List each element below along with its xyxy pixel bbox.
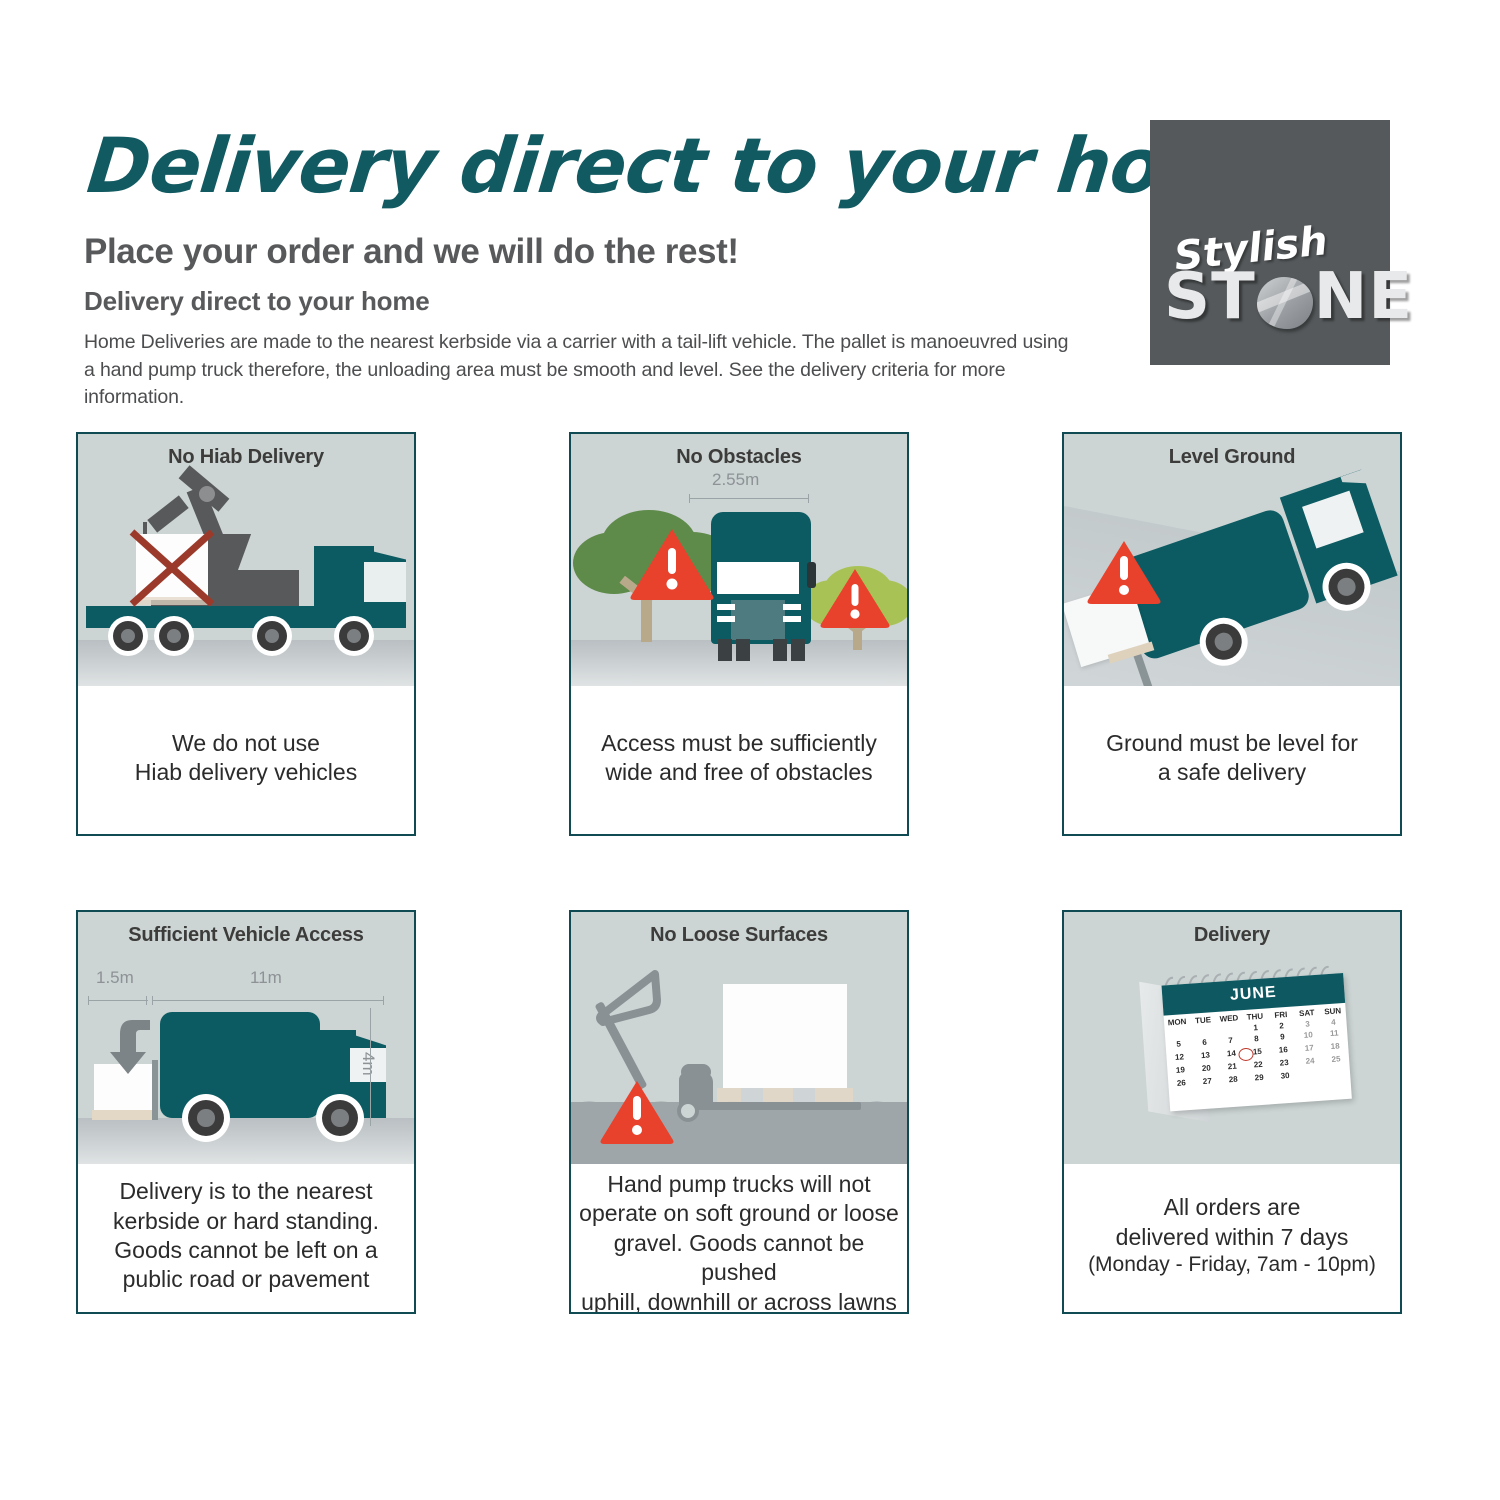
wheel [257, 621, 287, 651]
calendar-day: 26 [1168, 1076, 1195, 1091]
card-caption: Hand pump trucks will not operate on sof… [571, 1164, 907, 1314]
wheel [339, 621, 369, 651]
intro-paragraph: Home Deliveries are made to the nearest … [84, 329, 1084, 412]
card-illustration-loose-surface: No Loose Surfaces [571, 912, 907, 1164]
caption-line: We do not use [172, 729, 320, 758]
desk-calendar-icon: JUNE MON TUE WED THU FRI SAT SUN [1135, 965, 1355, 1129]
truck-grille [731, 600, 785, 640]
caption-line: Delivery is to the nearest [119, 1177, 372, 1206]
truck-headlight [717, 616, 735, 622]
card-title: No Obstacles [571, 446, 907, 469]
card-level-ground: Level Ground [1062, 432, 1402, 836]
pump-truck-wheel [677, 1100, 699, 1122]
caption-line: operate on soft ground or loose [579, 1199, 899, 1228]
card-title: Delivery [1064, 924, 1400, 947]
calendar-day [1298, 1067, 1325, 1082]
dimension-label-length: 11m [250, 968, 282, 988]
caption-line: Goods cannot be left on a [114, 1236, 377, 1265]
calendar-grid: MON TUE WED THU FRI SAT SUN [1164, 1003, 1351, 1091]
truck-box-body [160, 1012, 320, 1118]
wheel [736, 639, 750, 661]
header: Delivery direct to your home Place your … [84, 128, 1084, 412]
pallet-base [92, 1110, 154, 1120]
caption-line: delivered within 7 days [1116, 1223, 1349, 1252]
card-no-hiab-delivery: No Hiab Delivery [76, 432, 416, 836]
calendar-day [1324, 1065, 1351, 1080]
card-caption: Delivery is to the nearest kerbside or h… [78, 1164, 414, 1312]
logo-stone-part2: NE [1314, 260, 1413, 334]
truck-headlight [717, 604, 735, 610]
card-illustration-calendar: Delivery [1064, 912, 1400, 1164]
pump-truck-handle [593, 970, 673, 1032]
truck-mirror [807, 562, 816, 588]
pebble-icon [1257, 277, 1313, 329]
caption-line: Access must be sufficiently [601, 729, 877, 758]
down-arrow-icon [106, 1018, 158, 1076]
card-sufficient-vehicle-access: Sufficient Vehicle Access 1.5m 11m 4m [76, 910, 416, 1314]
card-no-obstacles: No Obstacles 2.55m [569, 432, 909, 836]
wheel [159, 621, 189, 651]
calendar-day: 27 [1194, 1074, 1221, 1089]
warning-icon [599, 1078, 675, 1144]
card-caption: Access must be sufficiently wide and fre… [571, 686, 907, 834]
caption-line: kerbside or hard standing. [113, 1207, 379, 1236]
calendar-day: 30 [1272, 1068, 1299, 1083]
truck-windscreen [717, 562, 799, 594]
logo-stone-part1: ST [1164, 260, 1256, 334]
card-title: Sufficient Vehicle Access [78, 924, 414, 947]
card-illustration-access: Sufficient Vehicle Access 1.5m 11m 4m [78, 912, 414, 1164]
caption-line: public road or pavement [123, 1265, 370, 1294]
caption-line: Hiab delivery vehicles [135, 758, 357, 787]
card-illustration-hiab: No Hiab Delivery [78, 434, 414, 686]
card-delivery: Delivery [1062, 910, 1402, 1314]
wheel [791, 639, 805, 661]
truck-headlight [783, 616, 801, 622]
warning-icon [629, 526, 715, 600]
dimension-label-height: 4m [358, 1052, 378, 1076]
calendar-day: 28 [1220, 1072, 1247, 1087]
caption-line: wide and free of obstacles [605, 758, 872, 787]
card-title: No Hiab Delivery [78, 446, 414, 469]
section-heading: Delivery direct to your home [84, 286, 1084, 317]
caption-line: All orders are [1164, 1193, 1301, 1222]
card-illustration-obstacles: No Obstacles 2.55m [571, 434, 907, 686]
wheel [188, 1100, 224, 1136]
card-title: Level Ground [1064, 446, 1400, 469]
card-caption: Ground must be level for a safe delivery [1064, 686, 1400, 834]
pallet-load [723, 984, 847, 1088]
ground-strip [78, 1118, 414, 1164]
dimension-label-kerb: 1.5m [96, 968, 134, 988]
dimension-label-width: 2.55m [712, 470, 759, 490]
caption-line: gravel. Goods cannot be pushed [579, 1229, 899, 1288]
wheel [113, 621, 143, 651]
cab-window [364, 562, 406, 602]
caption-line: Ground must be level for [1106, 729, 1358, 758]
caption-line: Hand pump trucks will not [607, 1170, 870, 1199]
wheel [718, 639, 732, 661]
logo-stone-text: ST NE [1164, 260, 1413, 334]
pump-truck-head [681, 1064, 711, 1080]
page-title: Delivery direct to your home [84, 128, 1092, 204]
crane-pivot [199, 486, 215, 502]
card-caption: All orders are delivered within 7 days (… [1064, 1164, 1400, 1312]
wheel [322, 1100, 358, 1136]
logo: Stylish ST NE [1150, 120, 1390, 365]
calendar-day: 29 [1246, 1070, 1273, 1085]
warning-icon [819, 566, 891, 628]
card-title: No Loose Surfaces [571, 924, 907, 947]
caption-line: uphill, downhill or across lawns [581, 1288, 897, 1314]
calendar-month-label: JUNE [1229, 984, 1277, 1005]
caption-line: a safe delivery [1158, 758, 1306, 787]
wheel [773, 639, 787, 661]
delivery-infographic: Delivery direct to your home Place your … [0, 0, 1500, 1500]
criteria-card-grid: No Hiab Delivery [76, 432, 1408, 1314]
caption-line-hours: (Monday - Friday, 7am - 10pm) [1088, 1252, 1376, 1279]
card-no-loose-surfaces: No Loose Surfaces [569, 910, 909, 1314]
warning-icon [1086, 538, 1162, 604]
truck-headlight [783, 604, 801, 610]
cross-icon [128, 528, 216, 608]
subheading: Place your order and we will do the rest… [84, 232, 1084, 272]
card-caption: We do not use Hiab delivery vehicles [78, 686, 414, 834]
card-illustration-slope: Level Ground [1064, 434, 1400, 686]
